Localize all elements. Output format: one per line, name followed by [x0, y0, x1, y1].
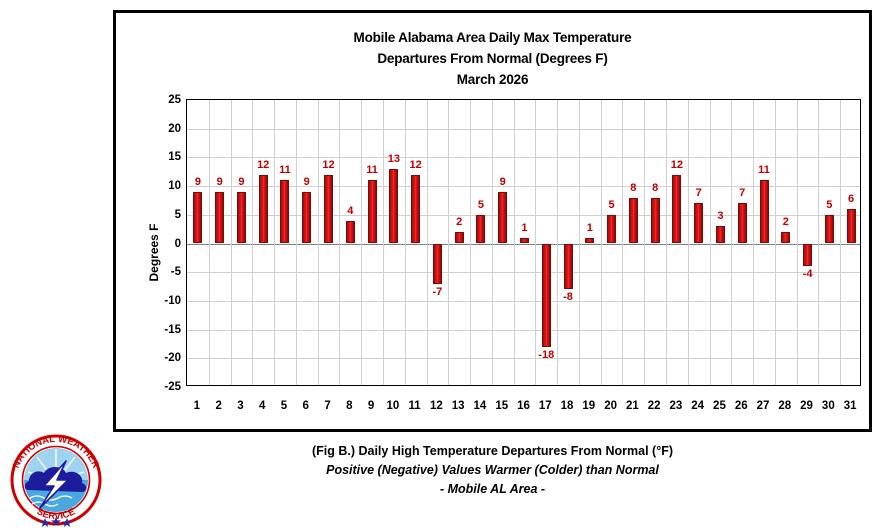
y-axis-tick-label: -15: [164, 324, 181, 336]
bar-value-label: 8: [630, 182, 636, 194]
bar[interactable]: [259, 175, 268, 244]
bar-slot: -18: [535, 100, 557, 385]
chart-title-line-1: Mobile Alabama Area Daily Max Temperatur…: [116, 27, 869, 48]
bar[interactable]: [781, 232, 790, 243]
x-axis-tick-label: 11: [409, 400, 421, 412]
x-axis-tick-label: 7: [324, 400, 330, 412]
nws-seal-icon: NATIONAL WEATHER SERVICE: [4, 428, 108, 527]
bar[interactable]: [825, 215, 834, 244]
chart-frame: Mobile Alabama Area Daily Max Temperatur…: [113, 10, 872, 432]
bar-slot: 9: [209, 100, 231, 385]
caption-line-1: (Fig B.) Daily High Temperature Departur…: [113, 442, 872, 461]
bar[interactable]: [368, 180, 377, 243]
bar-slot: -8: [557, 100, 579, 385]
bar-value-label: 1: [587, 222, 593, 234]
bar-value-label: 11: [758, 164, 770, 176]
bar[interactable]: [694, 203, 703, 243]
bar[interactable]: [760, 180, 769, 243]
y-axis-tick-label: 10: [168, 180, 181, 192]
bar-value-label: 6: [848, 193, 854, 205]
bar-value-label: -7: [433, 286, 443, 298]
x-axis-tick-label: 25: [713, 400, 726, 412]
x-axis-tick-label: 29: [800, 400, 813, 412]
bar-slot: 7: [688, 100, 710, 385]
bar-slot: 3: [710, 100, 732, 385]
x-axis-tick-label: 20: [604, 400, 617, 412]
bar-value-label: 9: [304, 176, 310, 188]
bar-slot: 12: [405, 100, 427, 385]
x-axis-tick-label: 1: [194, 400, 200, 412]
x-axis-tick-label: 19: [582, 400, 595, 412]
bar-value-label: 7: [696, 187, 702, 199]
y-axis-tick-label: 5: [175, 209, 181, 221]
bar-value-label: 11: [279, 164, 291, 176]
bar-value-label: 4: [347, 205, 353, 217]
bar[interactable]: [476, 215, 485, 244]
bar[interactable]: [738, 203, 747, 243]
x-axis: 1234567891011121314151617181920212223242…: [186, 388, 861, 410]
bar-value-label: -4: [803, 268, 813, 280]
y-axis-tick-label: 20: [168, 123, 181, 135]
x-axis-tick-label: 14: [474, 400, 487, 412]
x-axis-tick-label: 23: [670, 400, 683, 412]
x-axis-tick-label: 28: [778, 400, 791, 412]
bar-value-label: 5: [826, 199, 832, 211]
bar[interactable]: [651, 198, 660, 244]
bar-slot: 11: [753, 100, 775, 385]
bar[interactable]: [803, 244, 812, 267]
bar-slot: 9: [231, 100, 253, 385]
y-axis-tick-label: -20: [164, 352, 181, 364]
x-axis-tick-label: 27: [757, 400, 770, 412]
bar-value-label: 9: [238, 176, 244, 188]
bar[interactable]: [280, 180, 289, 243]
bar-slot: -7: [427, 100, 449, 385]
chart-title-line-3: March 2026: [116, 69, 869, 90]
bar[interactable]: [324, 175, 333, 244]
y-axis-tick-label: -10: [164, 295, 181, 307]
x-axis-tick-label: 5: [281, 400, 287, 412]
x-axis-tick-label: 13: [452, 400, 465, 412]
bar-slot: 9: [296, 100, 318, 385]
bar-slot: 6: [840, 100, 862, 385]
x-axis-tick-label: 3: [237, 400, 243, 412]
bar-value-label: 12: [322, 159, 334, 171]
x-axis-tick-label: 12: [430, 400, 443, 412]
bar-value-label: 11: [366, 164, 378, 176]
y-axis-title: Degrees F: [146, 109, 162, 396]
x-axis-tick-label: 21: [626, 400, 639, 412]
bar-value-label: 1: [521, 222, 527, 234]
bar-value-label: 2: [456, 216, 462, 228]
x-axis-tick-label: 26: [735, 400, 748, 412]
bar[interactable]: [411, 175, 420, 244]
bar[interactable]: [564, 244, 573, 290]
x-axis-tick-label: 8: [346, 400, 352, 412]
bar-slot: 8: [622, 100, 644, 385]
bar[interactable]: [542, 244, 551, 347]
x-axis-tick-label: 16: [517, 400, 530, 412]
x-axis-tick-label: 30: [822, 400, 835, 412]
bar-slot: 1: [579, 100, 601, 385]
bar-slot: 12: [252, 100, 274, 385]
bar-slot: 12: [666, 100, 688, 385]
x-axis-tick-label: 18: [561, 400, 574, 412]
bar-value-label: -18: [538, 349, 554, 361]
bar-slot: 8: [644, 100, 666, 385]
bar-slot: 13: [383, 100, 405, 385]
bar[interactable]: [629, 198, 638, 244]
y-axis-tick-label: 0: [175, 238, 181, 250]
x-axis-tick-label: 6: [303, 400, 309, 412]
x-axis-tick-label: 15: [495, 400, 508, 412]
x-axis-tick-label: 22: [648, 400, 661, 412]
bar[interactable]: [455, 232, 464, 243]
bar[interactable]: [607, 215, 616, 244]
bar-slot: 1: [514, 100, 536, 385]
bar-slot: 12: [318, 100, 340, 385]
bar-slot: 5: [601, 100, 623, 385]
bar[interactable]: [672, 175, 681, 244]
bar[interactable]: [215, 192, 224, 244]
bar-value-label: -8: [563, 291, 573, 303]
chart-title: Mobile Alabama Area Daily Max Temperatur…: [116, 27, 869, 90]
bar-slot: 9: [187, 100, 209, 385]
x-axis-tick-label: 9: [368, 400, 374, 412]
bar-value-label: 3: [717, 210, 723, 222]
bar-value-label: 9: [195, 176, 201, 188]
bar-slot: 2: [448, 100, 470, 385]
bar-slot: 4: [339, 100, 361, 385]
bar[interactable]: [498, 192, 507, 244]
bar-value-label: 12: [409, 159, 421, 171]
bar-slot: 11: [361, 100, 383, 385]
national-weather-service-logo: NATIONAL WEATHER SERVICE: [4, 428, 108, 527]
bar[interactable]: [346, 221, 355, 244]
bar-slot: -4: [797, 100, 819, 385]
bar-value-label: 12: [671, 159, 683, 171]
y-axis-tick-label: 25: [168, 94, 181, 106]
bar-value-label: 13: [388, 153, 400, 165]
y-axis-tick-label: 15: [168, 151, 181, 163]
bar-slot: 11: [274, 100, 296, 385]
bar[interactable]: [302, 192, 311, 244]
bar[interactable]: [520, 238, 529, 244]
figure-caption: (Fig B.) Daily High Temperature Departur…: [113, 442, 872, 499]
bar-slot: 9: [492, 100, 514, 385]
bar[interactable]: [389, 169, 398, 244]
x-axis-tick-label: 31: [844, 400, 857, 412]
x-axis-tick-label: 10: [386, 400, 399, 412]
bar[interactable]: [433, 244, 442, 284]
bar[interactable]: [237, 192, 246, 244]
bar-value-label: 9: [217, 176, 223, 188]
bar-value-label: 5: [478, 199, 484, 211]
caption-line-3: - Mobile AL Area -: [113, 480, 872, 499]
bar[interactable]: [847, 209, 856, 243]
bar-slot: 5: [818, 100, 840, 385]
chart-title-line-2: Departures From Normal (Degrees F): [116, 48, 869, 69]
bar-value-label: 5: [609, 199, 615, 211]
bar-slot: 7: [731, 100, 753, 385]
y-axis-tick-label: -25: [164, 381, 181, 393]
bar[interactable]: [716, 226, 725, 243]
bar-value-label: 2: [783, 216, 789, 228]
x-axis-tick-label: 4: [259, 400, 265, 412]
y-axis-tick-label: -5: [171, 266, 181, 278]
x-axis-tick-label: 2: [215, 400, 221, 412]
caption-line-2: Positive (Negative) Values Warmer (Colde…: [113, 461, 872, 480]
bar[interactable]: [585, 238, 594, 244]
bar-value-label: 12: [257, 159, 269, 171]
bar-value-label: 7: [739, 187, 745, 199]
bar-slot: 2: [775, 100, 797, 385]
x-axis-tick-label: 17: [539, 400, 552, 412]
bar-value-label: 9: [500, 176, 506, 188]
x-axis-tick-label: 24: [691, 400, 704, 412]
bar-value-label: 8: [652, 182, 658, 194]
bar[interactable]: [193, 192, 202, 244]
bar-slot: 5: [470, 100, 492, 385]
plot-area: 2520151050-5-10-15-20-259991211912411131…: [186, 99, 861, 386]
